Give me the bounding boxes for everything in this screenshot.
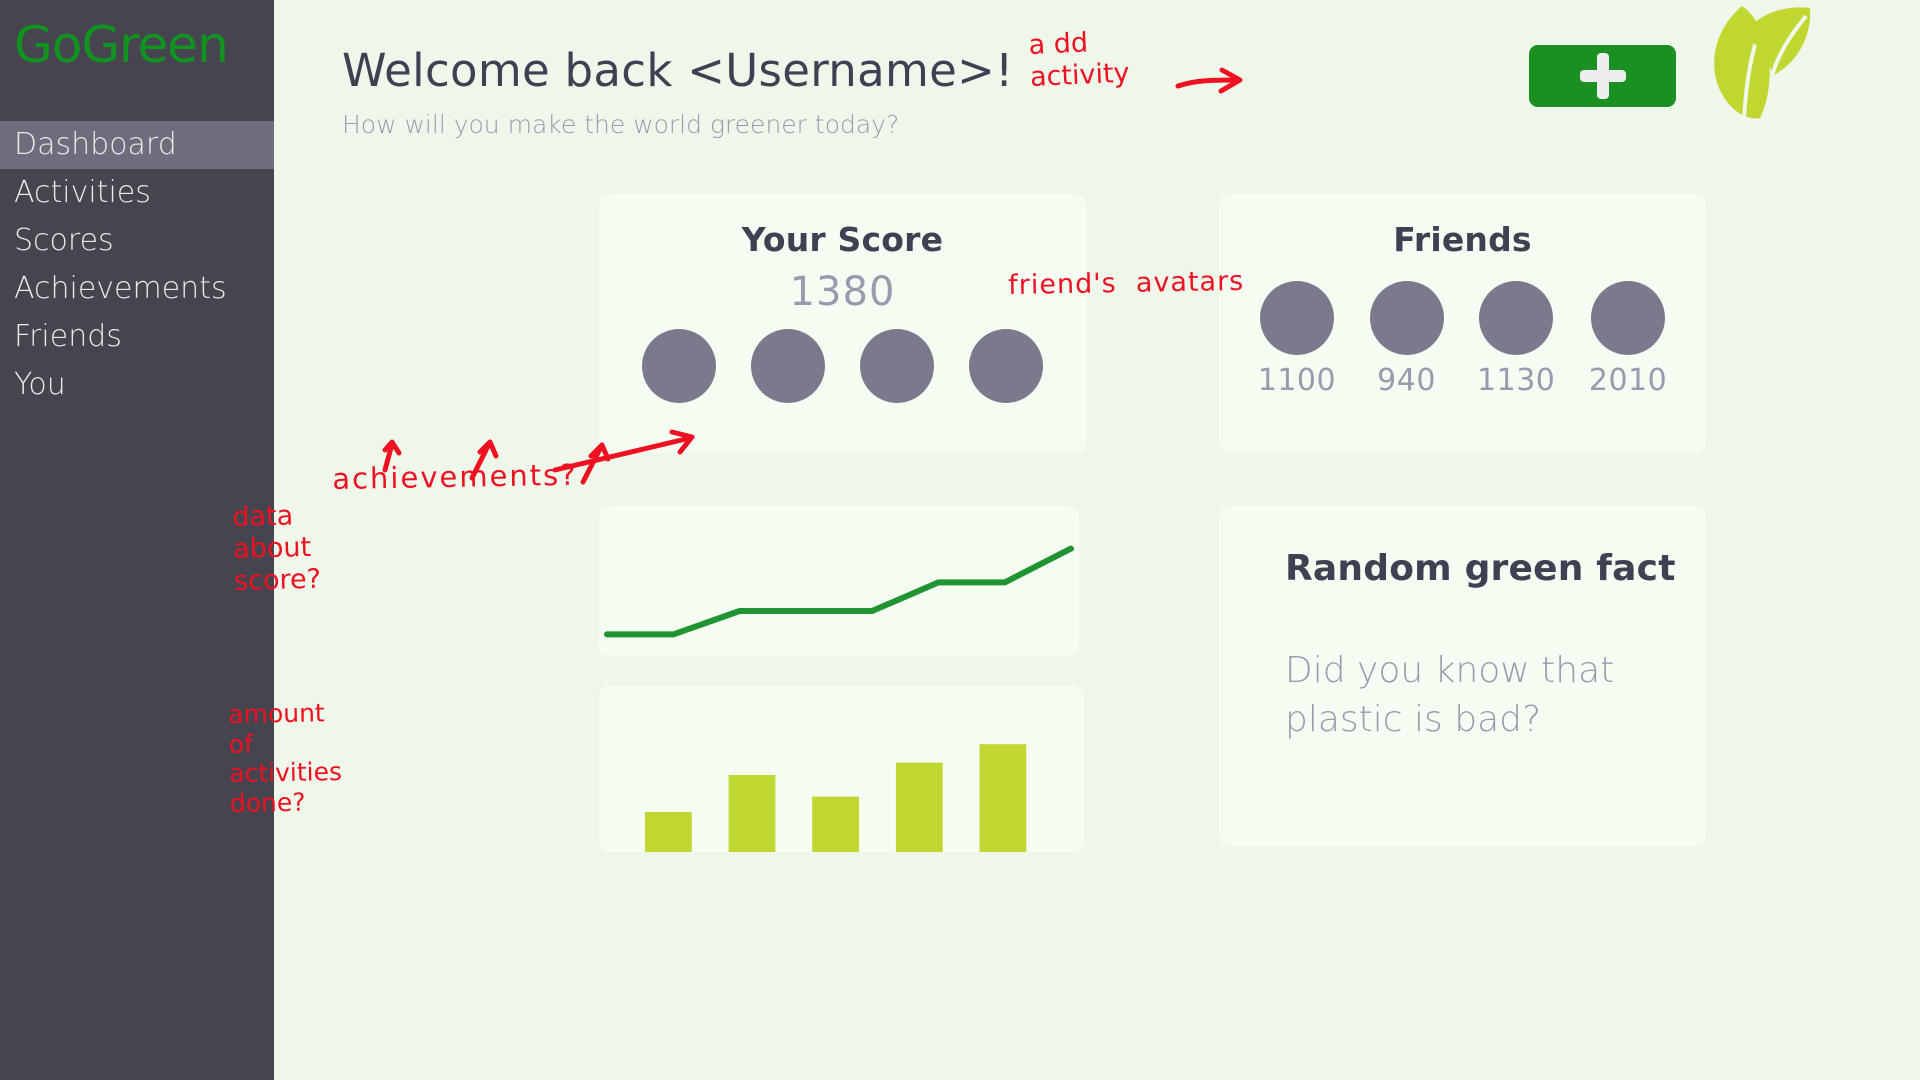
plus-icon — [1580, 53, 1626, 99]
bar — [729, 775, 776, 852]
list-item[interactable]: 940 — [1370, 281, 1444, 398]
green-fact-body: Did you know that plastic is bad? — [1219, 589, 1706, 744]
achievement-badge[interactable] — [642, 329, 716, 403]
friend-score: 2010 — [1589, 363, 1667, 398]
avatar[interactable] — [1479, 281, 1553, 355]
list-item[interactable]: 1130 — [1477, 281, 1555, 398]
dashboard-app: GoGreen Dashboard Activities Scores Achi… — [0, 0, 1920, 1080]
add-activity-button[interactable] — [1529, 45, 1676, 107]
friends-card: Friends 1100 940 1130 2010 — [1219, 194, 1706, 453]
score-card-title: Your Score — [599, 194, 1086, 259]
two-leaves-icon — [1684, 2, 1814, 120]
score-line-chart — [599, 506, 1079, 656]
friend-score: 940 — [1377, 363, 1436, 398]
list-item[interactable]: 2010 — [1589, 281, 1667, 398]
achievement-badge[interactable] — [751, 329, 825, 403]
main-content: Welcome back <Username>! How will you ma… — [274, 0, 1920, 1080]
friends-card-title: Friends — [1219, 194, 1706, 259]
avatar[interactable] — [1591, 281, 1665, 355]
bar — [896, 763, 943, 852]
friends-list: 1100 940 1130 2010 — [1219, 281, 1706, 398]
friend-score: 1100 — [1258, 363, 1336, 398]
bar — [812, 797, 859, 852]
sidebar-nav: Dashboard Activities Scores Achievements… — [0, 121, 274, 409]
activities-bar-chart-card — [599, 686, 1084, 852]
page-subtitle: How will you make the world greener toda… — [342, 110, 899, 139]
score-value: 1380 — [599, 269, 1086, 315]
line-series — [607, 549, 1071, 635]
sidebar-item-friends[interactable]: Friends — [0, 313, 274, 361]
sidebar-item-you[interactable]: You — [0, 361, 274, 409]
sidebar-item-activities[interactable]: Activities — [0, 169, 274, 217]
sidebar-item-dashboard[interactable]: Dashboard — [0, 121, 274, 169]
brand-logo-text[interactable]: GoGreen — [0, 0, 274, 73]
avatar[interactable] — [1370, 281, 1444, 355]
page-title: Welcome back <Username>! — [342, 44, 1013, 97]
sidebar-item-achievements[interactable]: Achievements — [0, 265, 274, 313]
friend-score: 1130 — [1477, 363, 1555, 398]
achievement-badges — [599, 329, 1086, 403]
activities-bar-chart — [599, 686, 1084, 852]
bar — [645, 812, 692, 852]
score-card: Your Score 1380 — [599, 194, 1086, 453]
list-item[interactable]: 1100 — [1258, 281, 1336, 398]
bar — [980, 744, 1027, 852]
score-line-chart-card — [599, 506, 1079, 656]
page-header: Welcome back <Username>! How will you ma… — [274, 0, 1920, 160]
avatar[interactable] — [1260, 281, 1334, 355]
sidebar-item-scores[interactable]: Scores — [0, 217, 274, 265]
achievement-badge[interactable] — [969, 329, 1043, 403]
sidebar: GoGreen Dashboard Activities Scores Achi… — [0, 0, 274, 1080]
achievement-badge[interactable] — [860, 329, 934, 403]
green-fact-title: Random green fact — [1219, 506, 1706, 589]
green-fact-card: Random green fact Did you know that plas… — [1219, 506, 1706, 846]
